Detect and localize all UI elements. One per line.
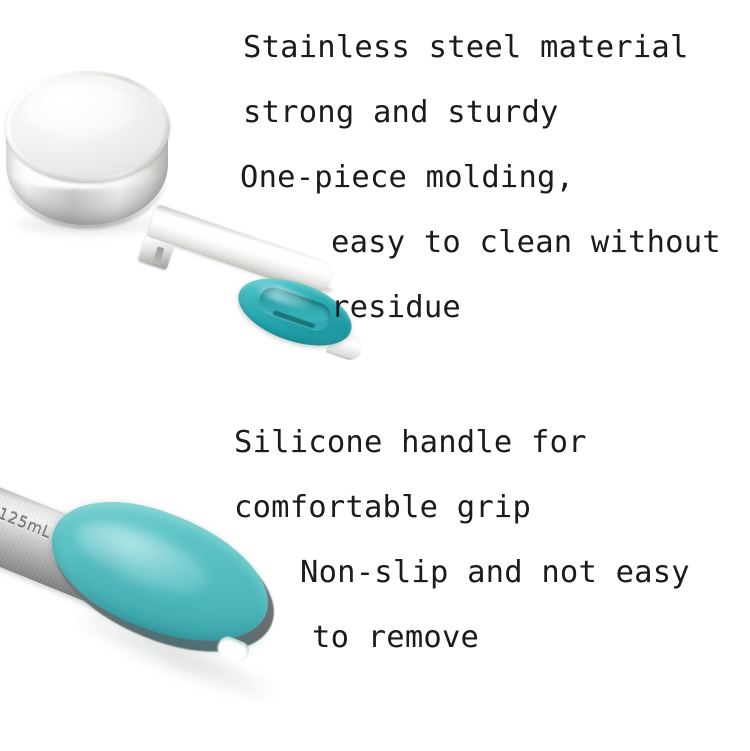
feature-line-handle-4: to remove bbox=[312, 623, 479, 654]
product-feature-image: up 125mL Stainless steel material strong… bbox=[0, 0, 750, 751]
feature-line-handle-3: Non-slip and not easy bbox=[300, 558, 690, 589]
feature-line-material-1: Stainless steel material bbox=[243, 33, 689, 64]
feature-line-handle-1: Silicone handle for bbox=[234, 428, 587, 459]
material-feature-block: Stainless steel material strong and stur… bbox=[0, 0, 750, 340]
feature-line-handle-2: comfortable grip bbox=[234, 493, 531, 524]
handle-feature-block: Silicone handle for comfortable grip Non… bbox=[0, 400, 750, 700]
feature-line-material-5: residue bbox=[331, 293, 461, 324]
feature-line-material-3: One-piece molding, bbox=[240, 163, 574, 194]
feature-line-material-4: easy to clean without bbox=[331, 228, 721, 259]
feature-line-material-2: strong and sturdy bbox=[243, 98, 559, 129]
